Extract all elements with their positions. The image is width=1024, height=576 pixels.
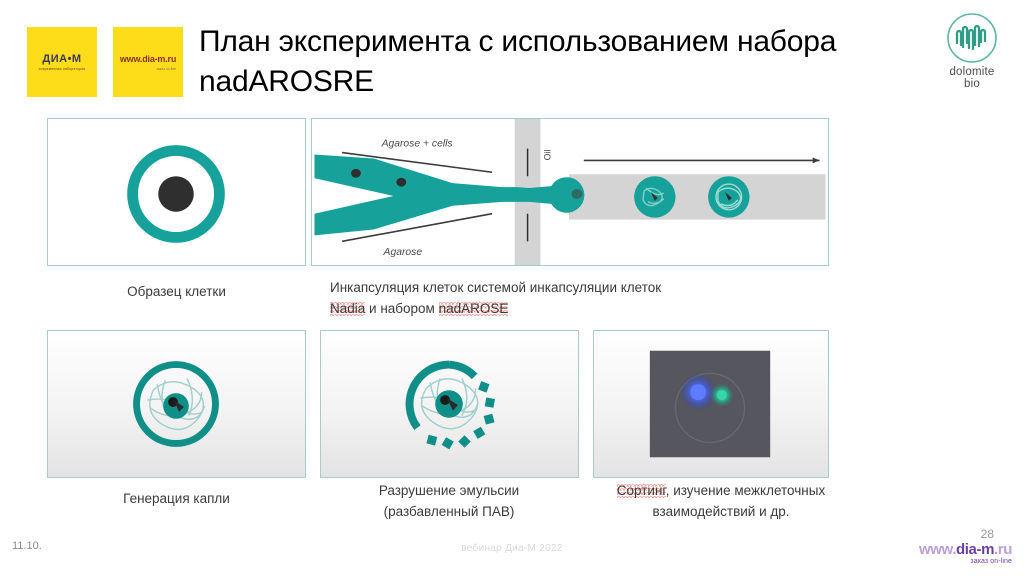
caption-emulsion-breaking: Разрушение эмульсии (разбавленный ПАВ): [313, 481, 585, 523]
misspelled-sorting: Сортинг: [617, 483, 666, 498]
caption-encapsulation-mid: и набором: [365, 301, 438, 316]
misspelled-nadarose: nadAROSE: [439, 301, 509, 316]
logo-diam: ДИА•М современная лаборатория: [27, 27, 97, 97]
panel-encapsulation: Agarose + cells Agarose Oil: [311, 118, 829, 266]
caption-emulsion-line1: Разрушение эмульсии: [313, 481, 585, 502]
caption-encapsulation-line1: Инкапсуляция клеток системой инкапсуляци…: [330, 278, 850, 299]
caption-sorting-line1: Сортинг, изучение межклеточных: [566, 481, 876, 502]
page-number: 28: [981, 527, 994, 541]
caption-sorting: Сортинг, изучение межклеточных взаимодей…: [566, 481, 876, 523]
broken-emulsion-icon: [321, 331, 578, 477]
dolomite-line1: dolomite: [949, 66, 994, 78]
logo-diam-tagline: современная лаборатория: [39, 66, 86, 71]
logo-diam-name: ДИА•М: [42, 54, 81, 65]
panel-sorting: [593, 330, 829, 478]
panel-emulsion-breaking: [320, 330, 579, 478]
logo-dolomite-bio: dolomite bio: [932, 12, 1012, 96]
dolomite-circle-icon: [946, 12, 998, 64]
logo-site-url: www.dia-m.ru: [120, 54, 176, 64]
misspelled-nadia: Nadia: [330, 301, 365, 316]
caption-encapsulation-line2: Nadia и набором nadAROSE: [330, 299, 850, 320]
caption-cell-sample: Образец клетки: [47, 282, 306, 303]
droplet-mesh-icon: [48, 331, 305, 477]
footer-logo-dia-m[interactable]: www.dia-m.ru заказ on-line: [919, 542, 1012, 565]
page-title: План эксперимента с использованием набор…: [199, 22, 899, 101]
footer-logo-main: dia-m: [956, 541, 994, 558]
caption-sorting-rest: , изучение межклеточных: [666, 483, 825, 498]
footer-event-text: вебинар Диа-М 2022: [0, 543, 1024, 554]
footer-logo-url: www.dia-m.ru: [919, 542, 1012, 557]
fluorescence-micrograph-icon: [594, 331, 828, 477]
svg-text:Agarose: Agarose: [383, 247, 423, 258]
cell-with-nucleus-icon: [48, 119, 305, 265]
caption-sorting-line2: взаимодействий и др.: [566, 502, 876, 523]
logo-dia-m-site: www.dia-m.ru заказ on-line: [113, 27, 183, 97]
panel-cell-sample: [47, 118, 306, 266]
svg-text:Oil: Oil: [542, 150, 552, 161]
caption-emulsion-line2: (разбавленный ПАВ): [313, 502, 585, 523]
panel-droplet-generation: [47, 330, 306, 478]
footer-logo-www: www: [919, 541, 952, 558]
microfluidic-junction-icon: Agarose + cells Agarose Oil: [312, 119, 828, 265]
footer-logo-tagline: заказ on-line: [919, 558, 1012, 565]
footer-logo-ru: ru: [998, 541, 1012, 558]
caption-droplet-generation: Генерация капли: [47, 489, 306, 510]
dolomite-line2: bio: [949, 78, 994, 90]
slide: ДИА•М современная лаборатория www.dia-m.…: [0, 0, 1024, 576]
caption-encapsulation: Инкапсуляция клеток системой инкапсуляци…: [330, 278, 850, 320]
logo-site-tagline: заказ on-line: [156, 67, 176, 71]
svg-text:Agarose + cells: Agarose + cells: [381, 139, 453, 150]
